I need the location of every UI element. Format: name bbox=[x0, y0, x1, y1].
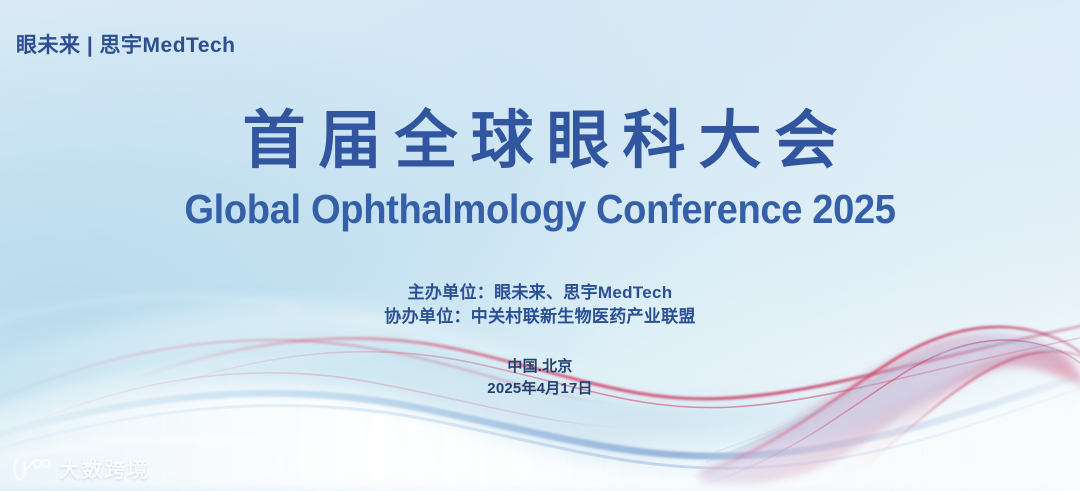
page-title-english: Global Ophthalmology Conference 2025 bbox=[38, 186, 1042, 232]
k100-logo-icon bbox=[10, 456, 52, 482]
brand-logo: 眼未来 | 思宇MedTech bbox=[16, 29, 236, 59]
co-host-organizer-line: 协办单位：中关村联新生物医药产业联盟 bbox=[0, 305, 1080, 329]
host-organizer-line: 主办单位：眼未来、思宇MedTech bbox=[0, 281, 1080, 305]
event-location: 中国.北京 bbox=[0, 356, 1080, 378]
headline-block: 首届全球眼科大会 Global Ophthalmology Conference… bbox=[0, 101, 1080, 232]
conference-banner: 眼未来 | 思宇MedTech 首届全球眼科大会 Global Ophthalm… bbox=[0, 0, 1080, 491]
event-date: 2025年4月17日 bbox=[0, 378, 1080, 400]
event-meta-block: 中国.北京 2025年4月17日 bbox=[0, 356, 1080, 400]
watermark-text: 大数跨境 bbox=[59, 454, 149, 484]
watermark: 大数跨境 bbox=[10, 454, 149, 484]
background-wave-decoration bbox=[0, 0, 1080, 491]
page-title-chinese: 首届全球眼科大会 bbox=[0, 101, 1080, 181]
organizers-block: 主办单位：眼未来、思宇MedTech 协办单位：中关村联新生物医药产业联盟 bbox=[0, 281, 1080, 329]
